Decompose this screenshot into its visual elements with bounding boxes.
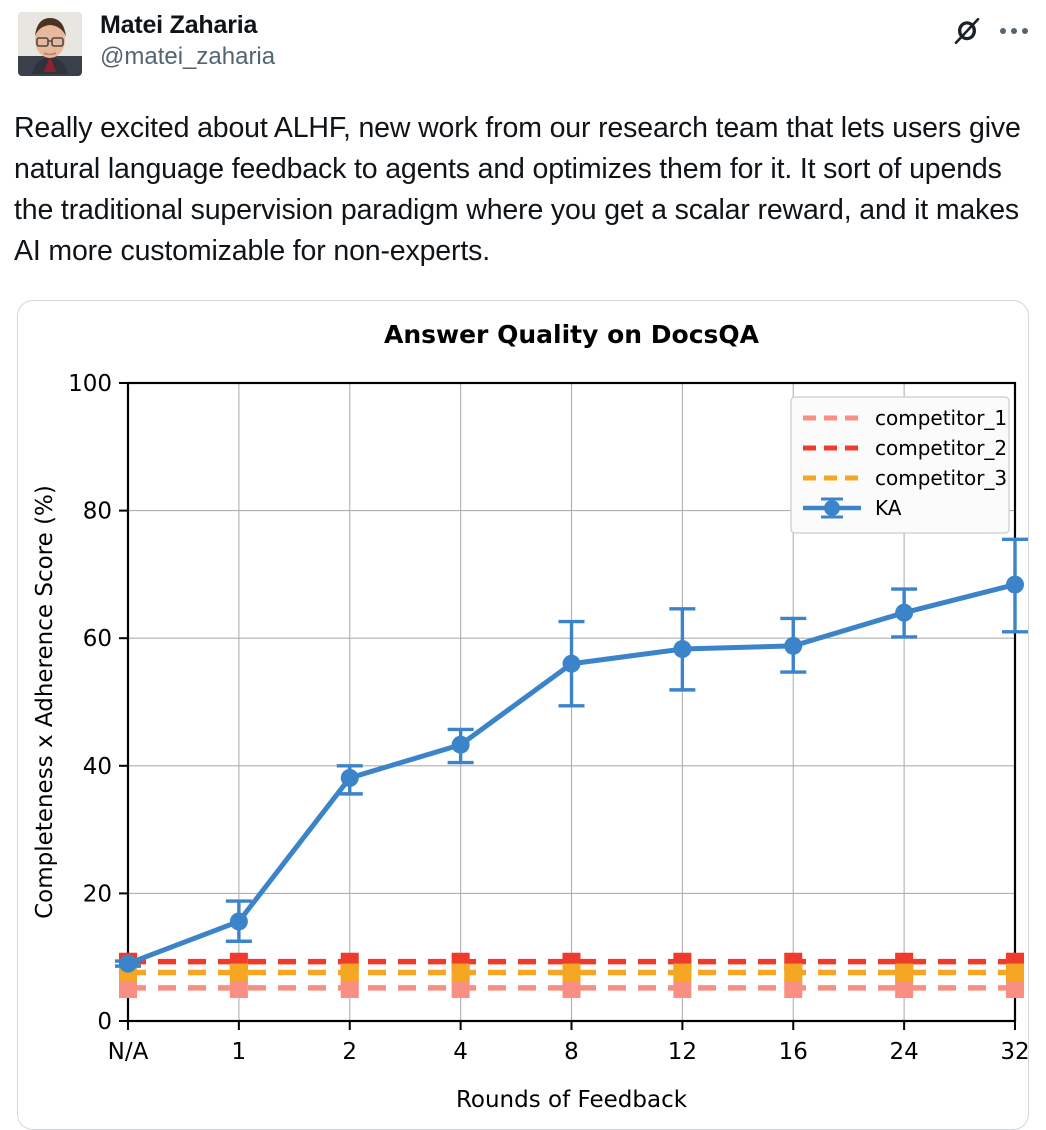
competitor-errorbar (1006, 964, 1024, 982)
competitor-errorbar (673, 964, 691, 982)
y-tick-label: 80 (83, 499, 112, 525)
x-tick-label: 24 (889, 1039, 918, 1065)
grok-icon[interactable] (952, 16, 982, 46)
y-axis-label: Completeness x Adherence Score (%) (32, 485, 58, 919)
competitor-errorbar (563, 964, 581, 982)
x-axis-label: Rounds of Feedback (456, 1087, 688, 1113)
x-tick-label: 2 (342, 1039, 357, 1065)
author-name-block: Matei Zaharia @matei_zaharia (100, 10, 275, 73)
dot (1022, 28, 1028, 34)
x-tick-label: 4 (453, 1039, 468, 1065)
avatar-photo (18, 12, 82, 76)
x-tick-label: 16 (779, 1039, 808, 1065)
display-name[interactable]: Matei Zaharia (100, 10, 275, 40)
header-actions (952, 16, 1032, 46)
grok-glyph (952, 16, 982, 46)
y-tick-label: 40 (83, 754, 112, 780)
legend-label: KA (875, 496, 902, 520)
ka-marker[interactable] (452, 736, 470, 754)
legend-marker (824, 500, 840, 516)
competitor-errorbar (341, 964, 359, 982)
x-tick-label: 12 (668, 1039, 697, 1065)
x-tick-label: 8 (564, 1039, 579, 1065)
legend-label: competitor_2 (875, 436, 1007, 460)
y-tick-label: 20 (83, 881, 112, 907)
chart-title: Answer Quality on DocsQA (384, 320, 760, 349)
tweet-container: Matei Zaharia @matei_zaharia Really exci… (0, 0, 1046, 1106)
avatar[interactable] (18, 12, 82, 76)
ka-marker[interactable] (784, 637, 802, 655)
y-tick-label: 100 (68, 371, 112, 397)
tweet-header: Matei Zaharia @matei_zaharia (14, 8, 1032, 86)
ka-marker[interactable] (895, 604, 913, 622)
legend-label: competitor_1 (875, 406, 1007, 430)
competitor-errorbar (784, 964, 802, 982)
y-tick-label: 60 (83, 626, 112, 652)
y-tick-label: 0 (97, 1009, 112, 1035)
ka-marker[interactable] (673, 640, 691, 658)
x-tick-label: 32 (1000, 1039, 1028, 1065)
x-tick-label: N/A (108, 1039, 149, 1065)
answer-quality-chart: Answer Quality on DocsQA020406080100N/A1… (18, 301, 1028, 1129)
ka-marker[interactable] (563, 655, 581, 673)
dot (1011, 28, 1017, 34)
chart-card[interactable]: Answer Quality on DocsQA020406080100N/A1… (17, 300, 1029, 1130)
ka-marker[interactable] (1006, 576, 1024, 594)
legend-label: competitor_3 (875, 466, 1007, 490)
competitor-errorbar (230, 964, 248, 982)
chart-legend[interactable]: competitor_1competitor_2competitor_3KA (791, 397, 1009, 533)
competitor-errorbar (452, 964, 470, 982)
tweet-text: Really excited about ALHF, new work from… (14, 108, 1032, 272)
ka-marker[interactable] (119, 955, 137, 973)
more-options-icon[interactable] (1000, 26, 1032, 36)
competitor-errorbar (895, 964, 913, 982)
dot (1000, 28, 1006, 34)
x-tick-label: 1 (232, 1039, 247, 1065)
ka-marker[interactable] (230, 912, 248, 930)
handle[interactable]: @matei_zaharia (100, 41, 275, 73)
ka-marker[interactable] (341, 769, 359, 787)
